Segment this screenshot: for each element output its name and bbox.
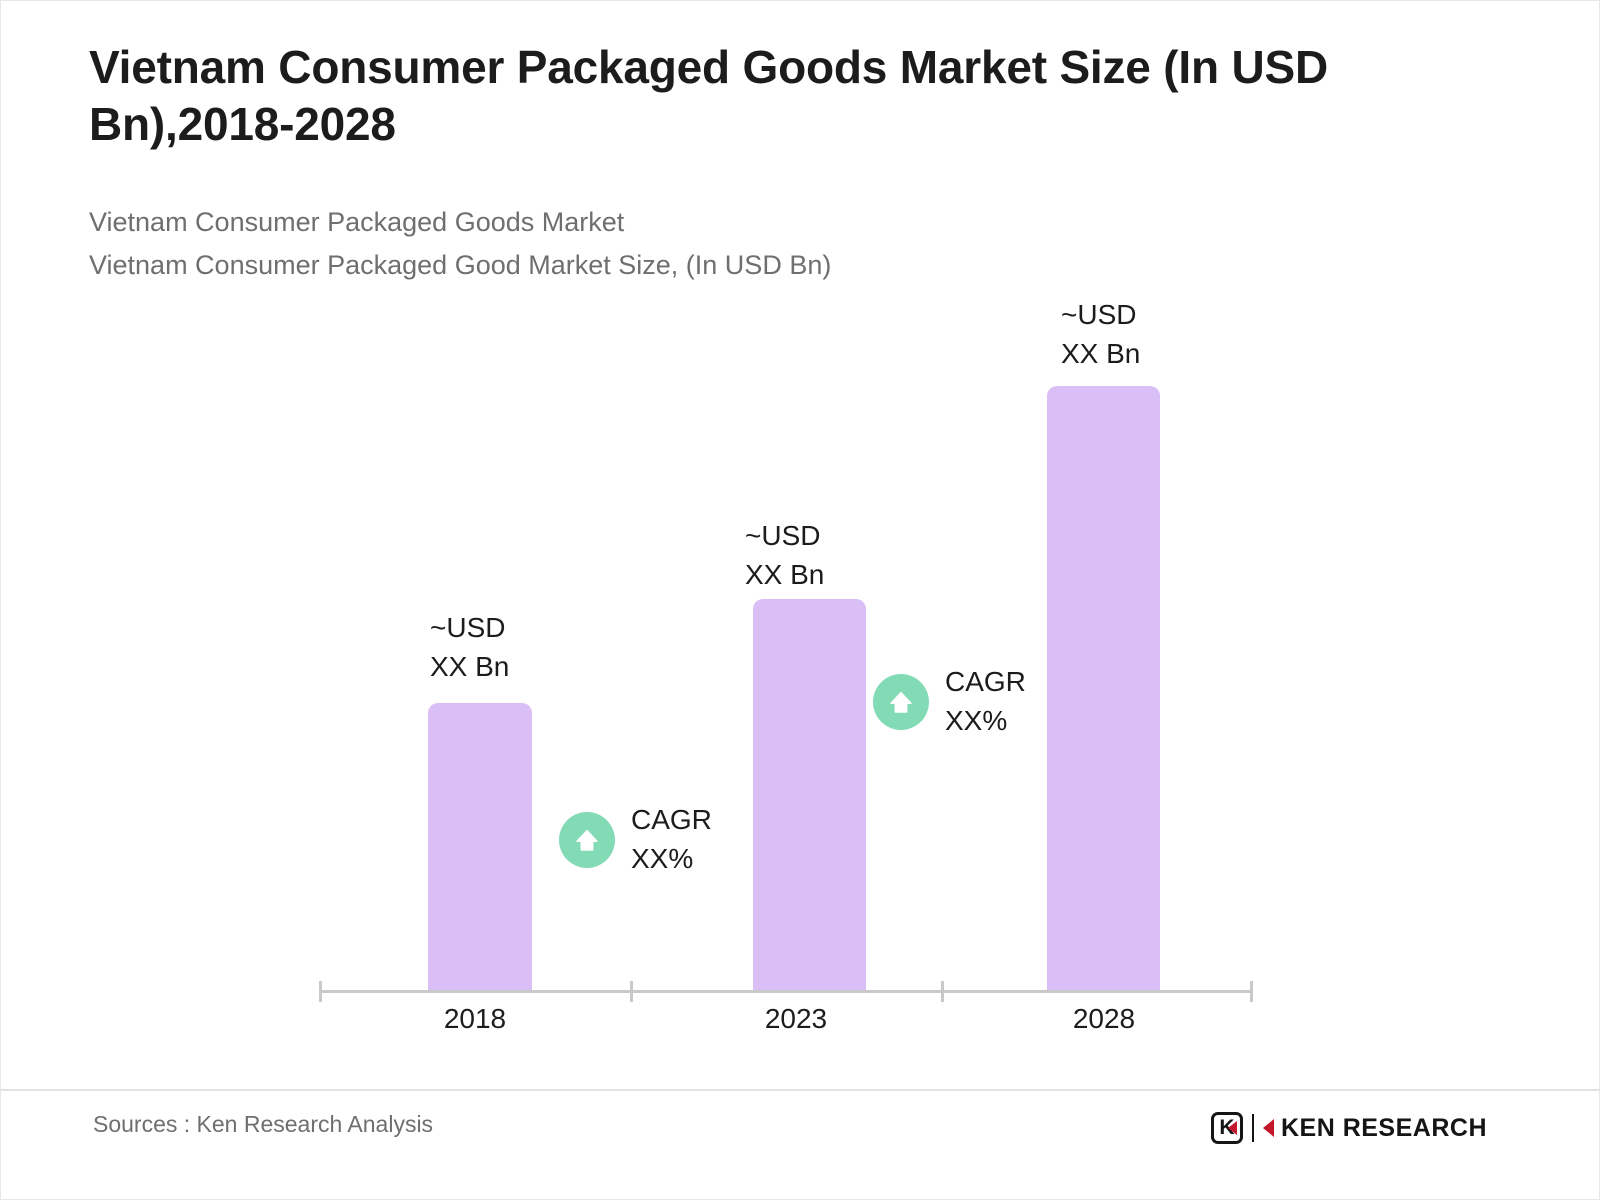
logo-divider — [1252, 1114, 1254, 1142]
arrow-up-icon — [559, 812, 615, 868]
bar-2023[interactable] — [753, 599, 866, 991]
cagr-annotation-1-text: CAGR XX% — [631, 801, 712, 878]
source-note: Sources : Ken Research Analysis — [93, 1111, 433, 1138]
bar-value-label-2018: ~USD XX Bn — [430, 609, 509, 686]
cagr-annotation-1: CAGR XX% — [559, 801, 712, 878]
x-axis-label-2023: 2023 — [696, 1003, 896, 1035]
x-axis-label-2018: 2018 — [375, 1003, 575, 1035]
bar-chart: ~USD XX Bn ~USD XX Bn ~USD XX Bn CAGR XX… — [1, 1, 1600, 1071]
cagr-annotation-2-line1: CAGR — [945, 663, 1026, 702]
bar-2028[interactable] — [1047, 386, 1160, 991]
arrow-up-icon — [873, 674, 929, 730]
cagr-annotation-2-text: CAGR XX% — [945, 663, 1026, 740]
logo-triangle-icon — [1228, 1121, 1237, 1135]
bar-value-label-2018-line2: XX Bn — [430, 648, 509, 687]
footer-divider — [1, 1089, 1600, 1091]
logo-k-icon: K — [1211, 1112, 1243, 1144]
bar-value-label-2023-line1: ~USD — [745, 517, 824, 556]
ken-research-logo: K KEN RESEARCH — [1211, 1111, 1487, 1145]
bar-value-label-2018-line1: ~USD — [430, 609, 509, 648]
bar-value-label-2023-line2: XX Bn — [745, 556, 824, 595]
cagr-annotation-1-line2: XX% — [631, 840, 712, 879]
cagr-annotation-2-line2: XX% — [945, 702, 1026, 741]
x-axis-tick-start — [319, 981, 322, 1002]
x-axis-label-2028: 2028 — [1004, 1003, 1204, 1035]
bar-value-label-2028-line1: ~USD — [1061, 296, 1140, 335]
x-axis-line — [319, 990, 1253, 993]
logo-arrow-icon — [1263, 1119, 1274, 1137]
logo-wordmark: KEN RESEARCH — [1281, 1114, 1487, 1143]
slide-page: Vietnam Consumer Packaged Goods Market S… — [0, 0, 1600, 1200]
bar-2018[interactable] — [428, 703, 532, 991]
cagr-annotation-2: CAGR XX% — [873, 663, 1026, 740]
bar-value-label-2023: ~USD XX Bn — [745, 517, 824, 594]
x-axis-tick-1 — [630, 981, 633, 1002]
cagr-annotation-1-line1: CAGR — [631, 801, 712, 840]
bar-value-label-2028-line2: XX Bn — [1061, 335, 1140, 374]
x-axis-tick-end — [1250, 981, 1253, 1002]
bar-value-label-2028: ~USD XX Bn — [1061, 296, 1140, 373]
x-axis-tick-2 — [941, 981, 944, 1002]
